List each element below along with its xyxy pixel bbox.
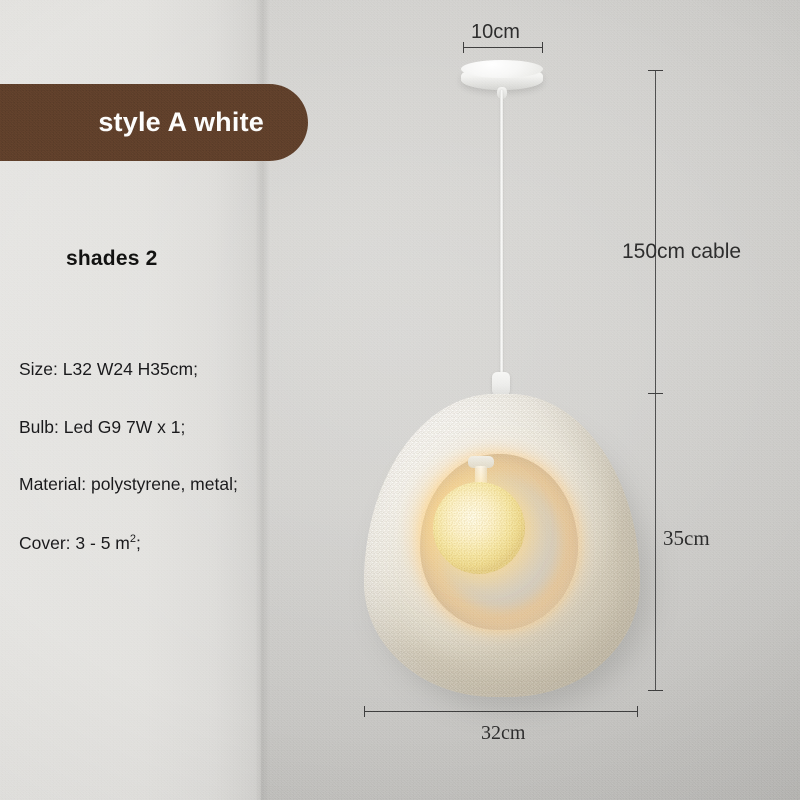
dimension-tick-canopy-left [463,42,464,53]
spec-cover-text: Cover: 3 - 5 m [19,532,130,552]
dimension-tick-shade-bottom [648,690,663,691]
dimension-tick-cable-bottom [648,393,663,394]
dimension-tick-shade-right [637,706,638,717]
dimension-line-shade-width [364,711,638,712]
dimension-label-shade-width: 32cm [481,722,525,745]
bulb-speckle-overlay [433,482,525,574]
ceiling-canopy-icon [461,60,543,94]
product-spec-image: style A white shades 2 Size: L32 W24 H35… [0,0,800,800]
dimension-tick-canopy-right [542,42,543,53]
pendant-cable [500,90,503,395]
style-badge: style A white [0,84,308,161]
spec-bulb: Bulb: Led G9 7W x 1; [19,419,339,437]
canopy-top [461,60,543,78]
style-badge-label: style A white [98,107,264,138]
dimension-line-vertical [655,70,656,690]
dimension-tick-cable-top [648,70,663,71]
spec-material: Material: polystyrene, metal; [19,476,339,494]
variant-label: shades 2 [66,247,158,271]
dimension-tick-shade-left [364,706,365,717]
pendant-lamp-icon [356,388,648,704]
dimension-label-shade-height: 35cm [663,526,710,551]
dimension-label-cable-length: 150cm cable [622,240,741,264]
spec-cover-suffix: ; [136,532,141,552]
spec-cover: Cover: 3 - 5 m2; [19,534,339,552]
spec-size: Size: L32 W24 H35cm; [19,361,339,379]
dimension-line-canopy-width [463,47,543,48]
dimension-label-canopy-width: 10cm [471,21,520,44]
spec-list: Size: L32 W24 H35cm; Bulb: Led G9 7W x 1… [19,361,339,592]
